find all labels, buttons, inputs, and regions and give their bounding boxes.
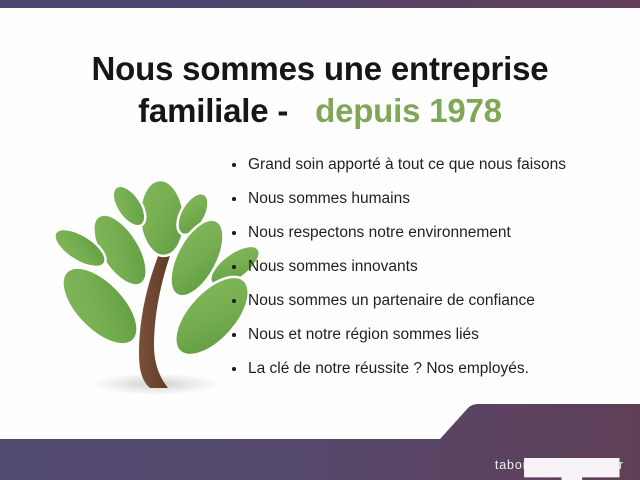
brand-footer-bar: TABOR (0, 400, 640, 480)
page-title: Nous sommes une entreprise familiale - d… (0, 48, 640, 132)
list-item-label: Nous sommes humains (248, 190, 410, 207)
heading-line-2-main: familiale - (138, 92, 288, 129)
bullet-dot-icon (232, 231, 236, 235)
brand-lockup: TABOR (426, 458, 626, 472)
list-item-label: Grand soin apporté à tout ce que nous fa… (248, 156, 566, 173)
list-item: Nous sommes innovants (230, 254, 630, 288)
heading-accent-year: depuis 1978 (315, 92, 502, 129)
list-item-label: Nous sommes innovants (248, 258, 418, 275)
list-item-label: Nous sommes un partenaire de confiance (248, 292, 535, 309)
list-item-label: Nous et notre région sommes liés (248, 326, 479, 343)
heading-line-1: Nous sommes une entreprise (18, 48, 622, 90)
list-item: Nous sommes un partenaire de confiance (230, 288, 630, 322)
bullet-dot-icon (232, 265, 236, 269)
bullet-dot-icon (232, 299, 236, 303)
heading-line-2: familiale - depuis 1978 (18, 90, 622, 132)
bullet-dot-icon (232, 163, 236, 167)
list-item: La clé de notre réussite ? Nos employés. (230, 356, 630, 390)
list-item: Nous sommes humains (230, 186, 630, 220)
top-accent-stripe (0, 0, 640, 8)
value-bullet-list: Grand soin apporté à tout ce que nous fa… (230, 152, 630, 390)
bullet-dot-icon (232, 197, 236, 201)
list-item: Grand soin apporté à tout ce que nous fa… (230, 152, 630, 186)
bullet-dot-icon (232, 367, 236, 371)
list-item-label: La clé de notre réussite ? Nos employés. (248, 360, 529, 377)
tabor-wordmark-icon (524, 458, 640, 480)
list-item-label: Nous respectons notre environnement (248, 224, 511, 241)
slide-canvas: Nous sommes une entreprise familiale - d… (0, 0, 640, 480)
list-item: Nous respectons notre environnement (230, 220, 630, 254)
bullet-dot-icon (232, 333, 236, 337)
list-item: Nous et notre région sommes liés (230, 322, 630, 356)
